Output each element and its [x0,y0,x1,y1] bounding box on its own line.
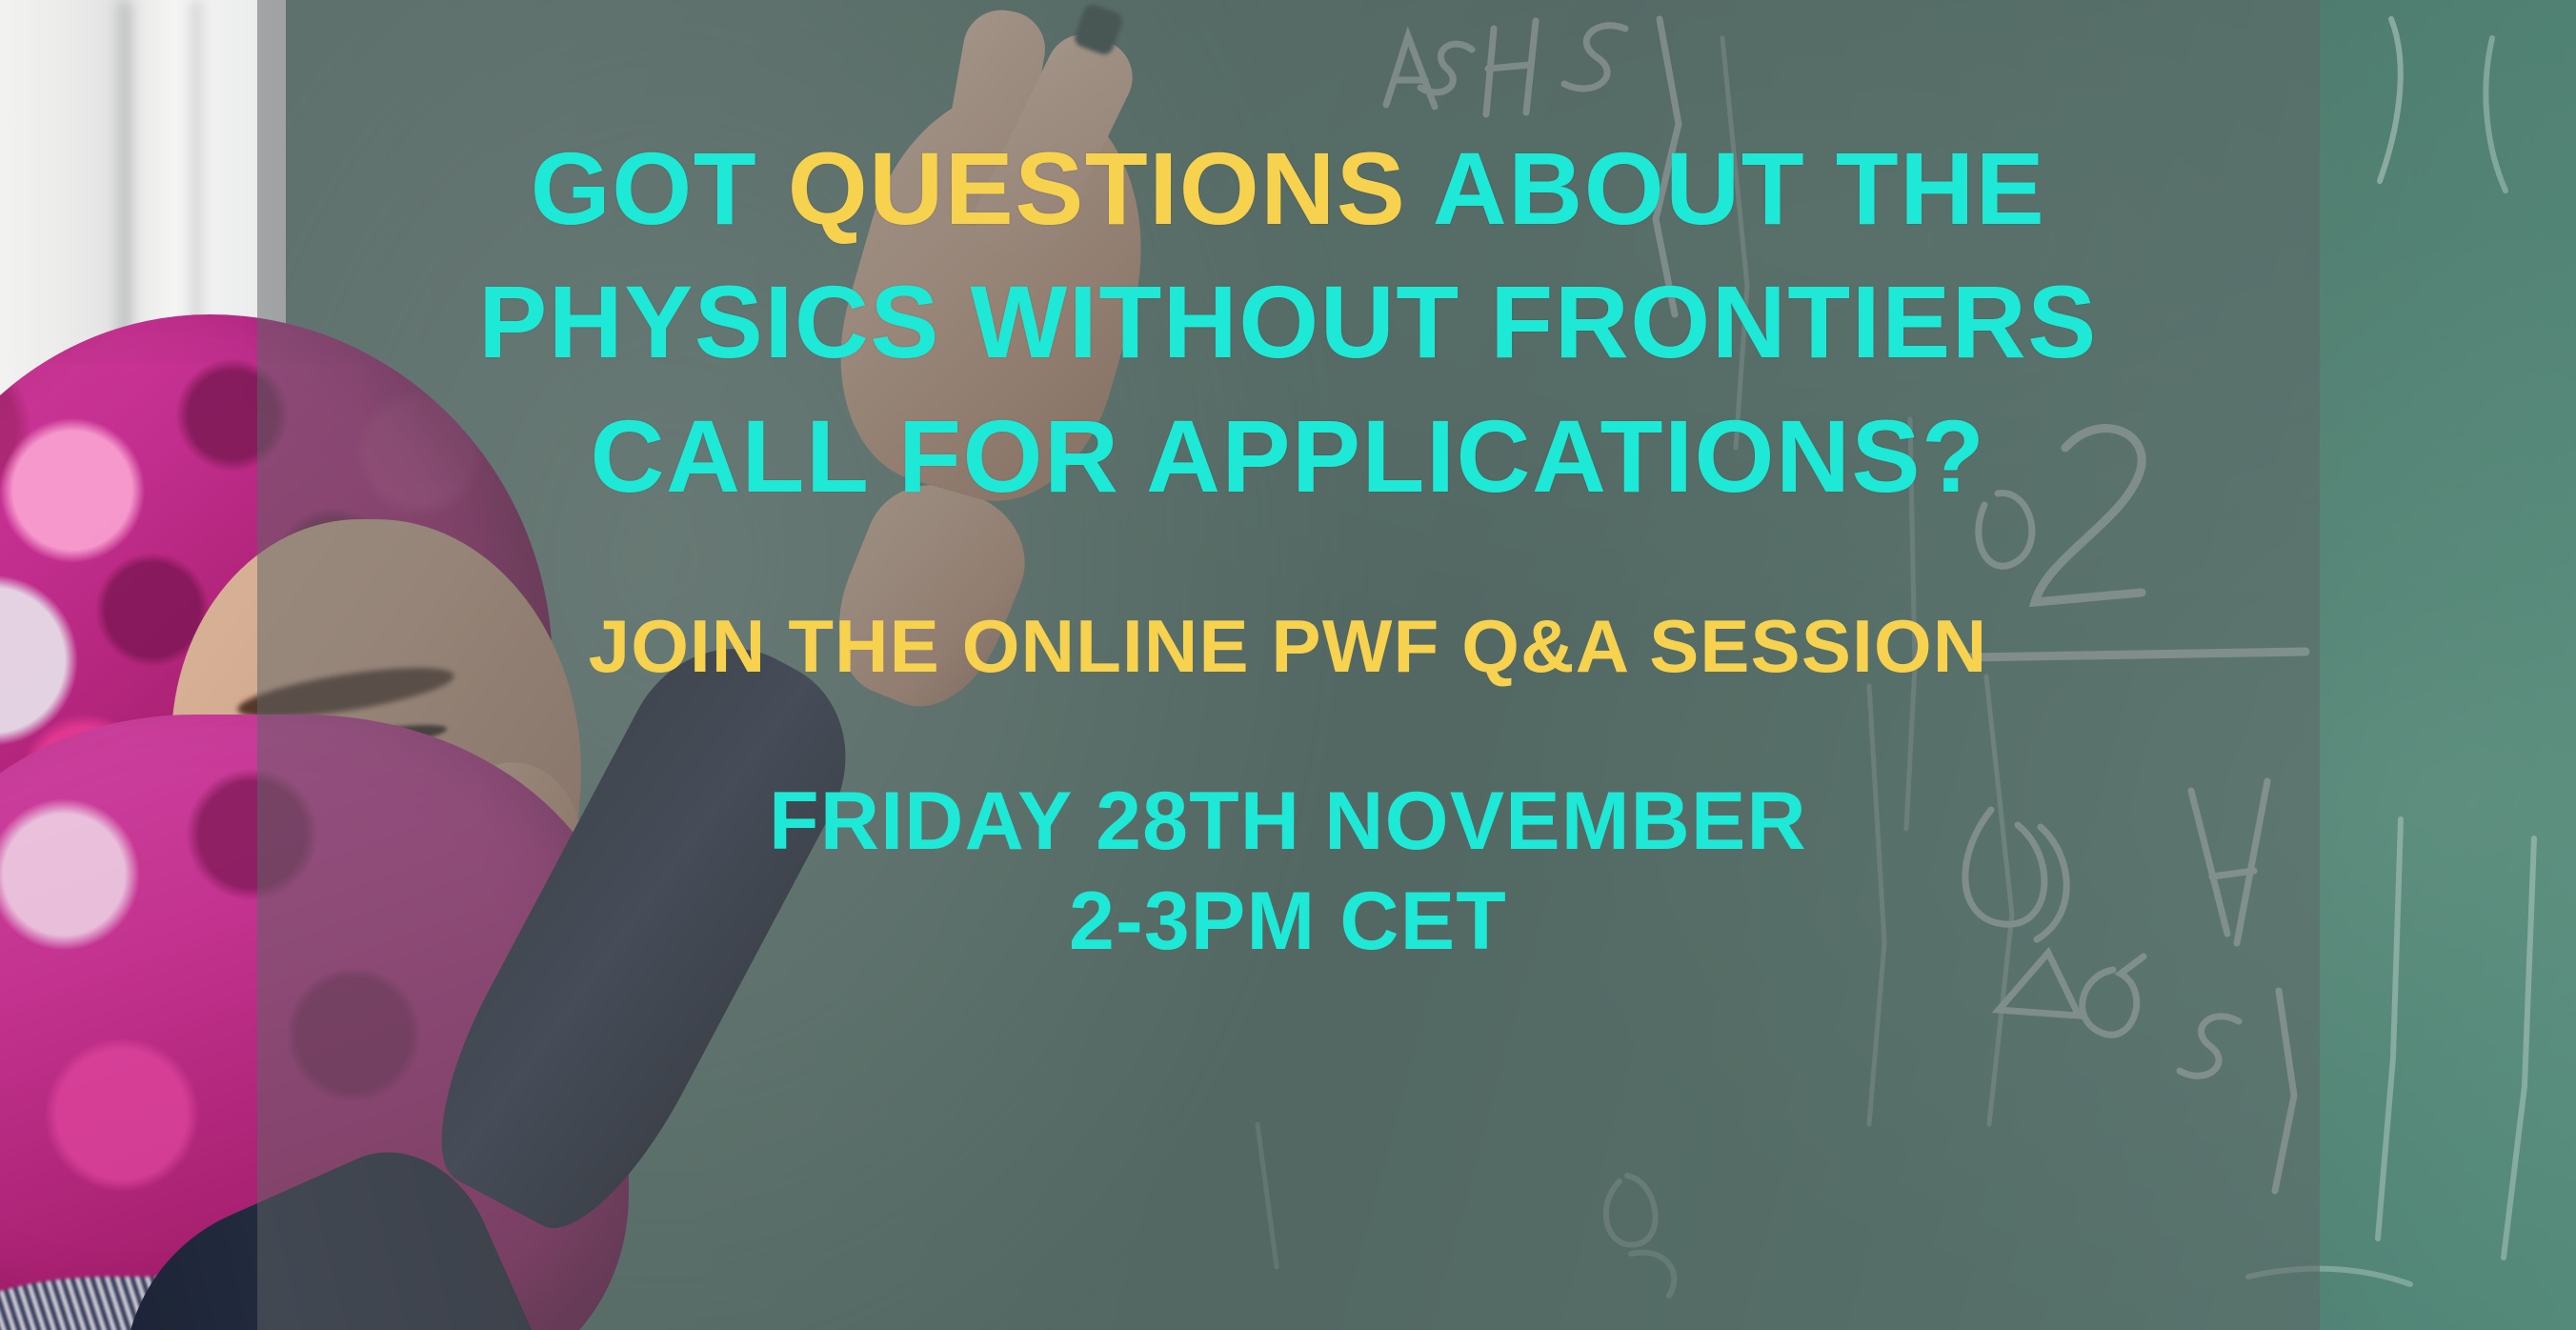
headline-part-1: GOT [531,131,788,246]
headline-highlight: QUESTIONS [788,131,1407,246]
event-time: 2-3PM CET [335,872,2241,972]
subheadline: JOIN THE ONLINE PWF Q&A SESSION [335,603,2241,690]
page-title: GOT QUESTIONS ABOUT THE PHYSICS WITHOUT … [383,122,2193,523]
event-date: FRIDAY 28TH NOVEMBER [769,776,1807,867]
text-overlay: GOT QUESTIONS ABOUT THE PHYSICS WITHOUT … [0,0,2576,1330]
event-datetime: FRIDAY 28TH NOVEMBER 2-3PM CET [335,772,2241,972]
promo-poster: GOT QUESTIONS ABOUT THE PHYSICS WITHOUT … [0,0,2576,1330]
